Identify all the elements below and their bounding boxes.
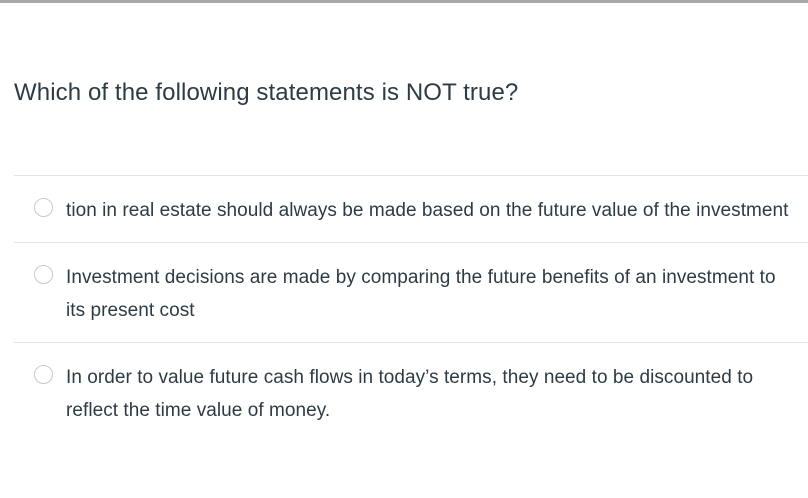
- question-prompt: Which of the following statements is NOT…: [14, 78, 784, 108]
- radio-unselected-icon[interactable]: [34, 365, 53, 384]
- answer-options-list: tion in real estate should always be mad…: [0, 175, 808, 442]
- answer-option-3-label: In order to value future cash flows in t…: [66, 361, 794, 427]
- top-edge-bar: [0, 0, 808, 3]
- answer-option-2-label: Investment decisions are made by compari…: [66, 261, 794, 327]
- answer-option-1-content: tion in real estate should always be mad…: [24, 194, 794, 227]
- answer-option-3-content: In order to value future cash flows in t…: [24, 361, 794, 427]
- answer-option-3[interactable]: In order to value future cash flows in t…: [14, 342, 808, 442]
- answer-option-2-content: Investment decisions are made by compari…: [24, 261, 794, 327]
- radio-unselected-icon[interactable]: [34, 198, 53, 217]
- answer-option-2[interactable]: Investment decisions are made by compari…: [14, 242, 808, 342]
- radio-unselected-icon[interactable]: [34, 265, 53, 284]
- answer-option-1-label: tion in real estate should always be mad…: [66, 194, 794, 227]
- answer-option-1[interactable]: tion in real estate should always be mad…: [14, 175, 808, 242]
